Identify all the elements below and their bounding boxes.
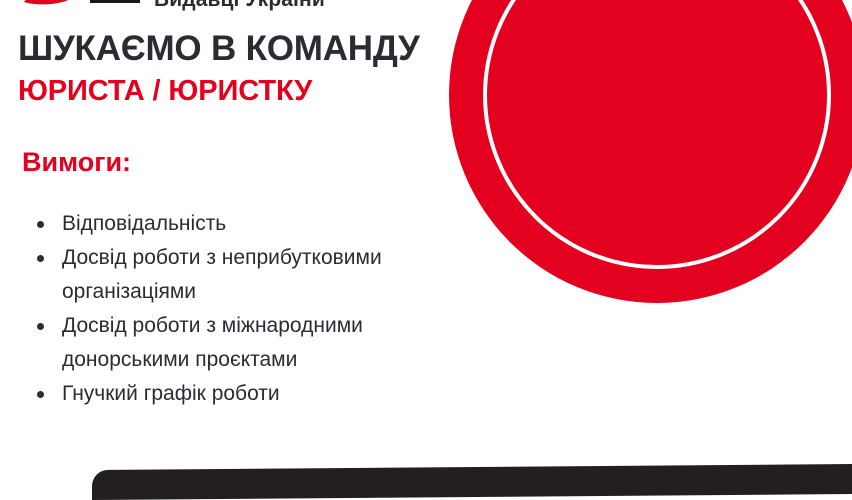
logo-mark xyxy=(14,0,144,22)
list-item: Досвід роботи з неприбутковими організац… xyxy=(26,241,496,309)
list-item-label: Досвід роботи з міжнародними донорськими… xyxy=(62,314,363,371)
requirements-list: Відповідальність Досвід роботи з неприбу… xyxy=(26,207,496,411)
list-item: Відповідальність xyxy=(26,207,496,241)
logo-wordmark: Видавці України xyxy=(154,0,325,22)
list-item-label: Гнучкий графік роботи xyxy=(62,382,280,405)
requirements-title: Вимоги: xyxy=(22,147,131,178)
logo-glyphs-svg xyxy=(14,0,144,22)
white-ring-arc xyxy=(485,0,829,267)
headline-primary: ШУКАЄМО В КОМАНДУ xyxy=(18,31,420,68)
red-circle-shape xyxy=(449,0,852,303)
bullet-icon xyxy=(37,323,44,330)
poster-canvas: Видавці України ШУКАЄМО В КОМАНДУ ЮРИСТА… xyxy=(0,0,852,500)
list-item-label: Відповідальність xyxy=(62,212,226,235)
list-item: Гнучкий графік роботи xyxy=(26,377,496,411)
bullet-icon xyxy=(37,221,44,228)
dark-footer-bar xyxy=(92,464,852,500)
list-item: Досвід роботи з міжнародними донорськими… xyxy=(26,309,496,377)
headline-secondary: ЮРИСТА / ЮРИСТКУ xyxy=(18,76,312,106)
bullet-icon xyxy=(37,255,44,262)
red-flag-icon xyxy=(22,0,75,4)
black-anvil-icon xyxy=(90,0,140,3)
list-item-label: Досвід роботи з неприбутковими організац… xyxy=(62,246,382,303)
bullet-icon xyxy=(37,391,44,398)
logo-lockup: Видавці України xyxy=(14,0,325,22)
